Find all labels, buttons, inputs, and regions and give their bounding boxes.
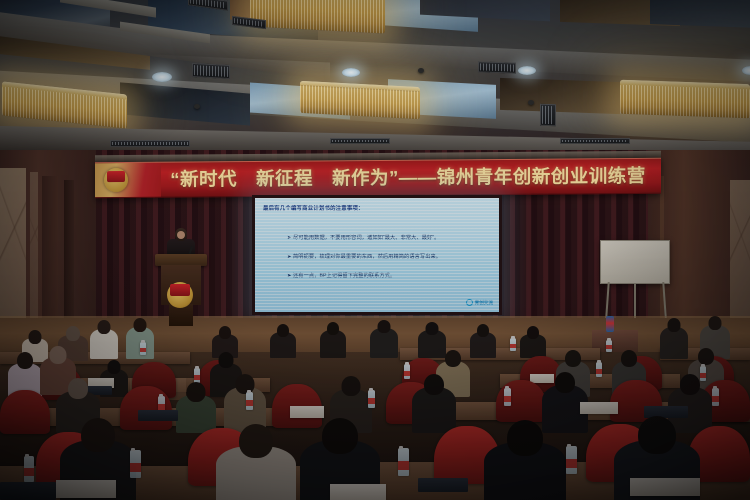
air-vent-grille	[560, 138, 630, 144]
attendee-head	[621, 350, 637, 367]
seated-attendee	[370, 320, 398, 358]
presenter-face	[177, 231, 185, 239]
bullet-text: 还有一点，BP上记得留下完整的联系方式。	[293, 273, 395, 279]
event-banner: “新时代 新征程 新作为”——锦州青年创新创业训练营	[95, 158, 661, 198]
handout-paper	[56, 480, 116, 498]
attendee-head	[108, 360, 121, 374]
attendee-head	[378, 320, 391, 333]
slide-bullet: ➤ 尽可能用数据，不要用形容词，诸如如“最大、非常大、最好”。	[287, 234, 439, 241]
attendee-head	[134, 318, 147, 332]
water-bottle	[368, 390, 375, 408]
seated-attendee	[520, 326, 546, 358]
recessed-downlight	[518, 66, 536, 75]
attendee-head	[322, 418, 358, 454]
attendee-head	[236, 374, 255, 394]
bullet-marker: ➤	[287, 235, 291, 241]
seated-attendee	[412, 374, 456, 432]
air-vent-grille	[540, 104, 556, 127]
attendee-head	[187, 382, 206, 402]
water-bottle	[140, 342, 146, 355]
circle-mark-icon	[466, 299, 473, 306]
air-vent-grille	[110, 140, 190, 147]
seated-attendee	[484, 420, 566, 500]
notebook-folder	[138, 410, 178, 421]
notebook-folder	[418, 478, 468, 492]
ceiling	[0, 0, 750, 162]
attendee-head	[565, 350, 581, 367]
attendee-head	[445, 350, 461, 367]
handout-paper	[630, 478, 700, 496]
attendee-head	[219, 326, 231, 339]
marble-wall-column	[0, 168, 26, 332]
attendee-head	[507, 420, 543, 456]
bullet-marker: ➤	[287, 254, 291, 260]
water-bottle	[194, 368, 200, 383]
water-bottle	[566, 446, 577, 474]
seated-attendee	[176, 382, 216, 432]
ceiling-beam	[140, 32, 750, 82]
handout-paper	[580, 402, 618, 414]
attendee-head	[277, 324, 289, 337]
attendee-head	[81, 418, 115, 452]
attendee-head	[29, 330, 42, 344]
banner-title: “新时代 新征程 新作为”——锦州青年创新创业训练营	[161, 159, 661, 197]
ceiling-panel	[500, 78, 620, 114]
water-bottle	[510, 338, 516, 351]
notebook-folder	[0, 482, 56, 500]
water-bottle	[398, 448, 409, 476]
communist-youth-league-emblem	[104, 168, 128, 192]
air-vent-grille	[478, 61, 516, 73]
projection-screen: 最后有几个编写商业计划书的注意事项： ➤ 尽可能用数据，不要用形容词，诸如如“最…	[255, 198, 499, 312]
air-vent-grille	[192, 63, 230, 79]
water-bottle	[596, 362, 602, 377]
seated-attendee	[270, 324, 296, 358]
bullet-text: 尽可能用数据，不要用形容词，诸如如“最大、非常大、最好”。	[293, 235, 439, 241]
attendee-head	[680, 374, 700, 395]
attendee-head	[638, 416, 676, 454]
podium	[155, 254, 207, 324]
projection-screen-frame: 最后有几个编写商业计划书的注意事项： ➤ 尽可能用数据，不要用形容词，诸如如“最…	[252, 195, 502, 315]
attendee-head	[698, 348, 714, 365]
handout-paper	[290, 406, 324, 418]
attendee-head	[426, 322, 439, 335]
water-bottle	[504, 388, 511, 406]
water-bottle	[404, 364, 410, 379]
slide-bullet: ➤ 还有一点，BP上记得留下完整的联系方式。	[287, 272, 395, 279]
attendee-head	[17, 352, 33, 369]
recessed-downlight	[342, 68, 360, 77]
attendee-head	[219, 352, 234, 368]
slide-logo-text: 青创交流	[475, 300, 493, 306]
seated-attendee	[470, 324, 496, 358]
attendee-head	[709, 316, 722, 330]
recessed-downlight	[152, 72, 172, 82]
seated-attendee	[320, 322, 346, 358]
attendee-head	[68, 378, 88, 399]
red-conference-chair	[0, 390, 50, 434]
attendee-head	[50, 346, 67, 364]
slide-logo: 青创交流	[466, 299, 493, 306]
attendee-head	[527, 326, 539, 339]
slide-title: 最后有几个编写商业计划书的注意事项：	[263, 204, 364, 212]
seated-attendee	[660, 318, 688, 358]
whiteboard-on-stand	[600, 240, 670, 284]
marble-wall-column	[30, 172, 38, 328]
bullet-marker: ➤	[287, 273, 291, 279]
attendee-head	[342, 376, 361, 396]
thermos-flask	[606, 316, 614, 332]
ceiling-speaker	[194, 104, 200, 109]
ceiling-speaker	[418, 68, 424, 73]
attendee-head	[66, 326, 80, 341]
water-bottle	[130, 450, 141, 478]
ceiling-speaker	[528, 100, 534, 105]
attendee-head	[239, 424, 273, 458]
bullet-text: 简明扼要，梳理对你最重要的东西，然后用精简的语言写出来。	[293, 254, 441, 260]
attendee-head	[668, 318, 681, 332]
crystal-chandelier	[620, 80, 750, 119]
attendee-head	[98, 320, 111, 334]
water-bottle	[246, 392, 253, 410]
air-vent-grille	[330, 138, 390, 144]
water-bottle	[24, 456, 34, 482]
attendee-head	[327, 322, 339, 335]
conference-hall-photo: “新时代 新征程 新作为”——锦州青年创新创业训练营 最后有几个编写商业计划书的…	[0, 0, 750, 500]
crystal-chandelier	[300, 81, 420, 119]
seated-attendee	[216, 424, 296, 500]
water-bottle	[712, 388, 719, 406]
marble-wall-column	[730, 180, 750, 330]
banner-emblem-panel	[95, 163, 161, 198]
slide-bullet: ➤ 简明扼要，梳理对你最重要的东西，然后用精简的语言写出来。	[287, 253, 441, 260]
seated-attendee	[90, 320, 118, 358]
wood-wall-panel	[42, 176, 58, 328]
ceiling-panel	[650, 0, 750, 28]
wood-wall-panel	[64, 180, 74, 330]
attendee-head	[424, 374, 444, 395]
attendee-head	[555, 372, 575, 393]
podium-red-gold-emblem	[167, 282, 193, 308]
handout-paper	[330, 484, 386, 500]
attendee-head	[477, 324, 489, 337]
